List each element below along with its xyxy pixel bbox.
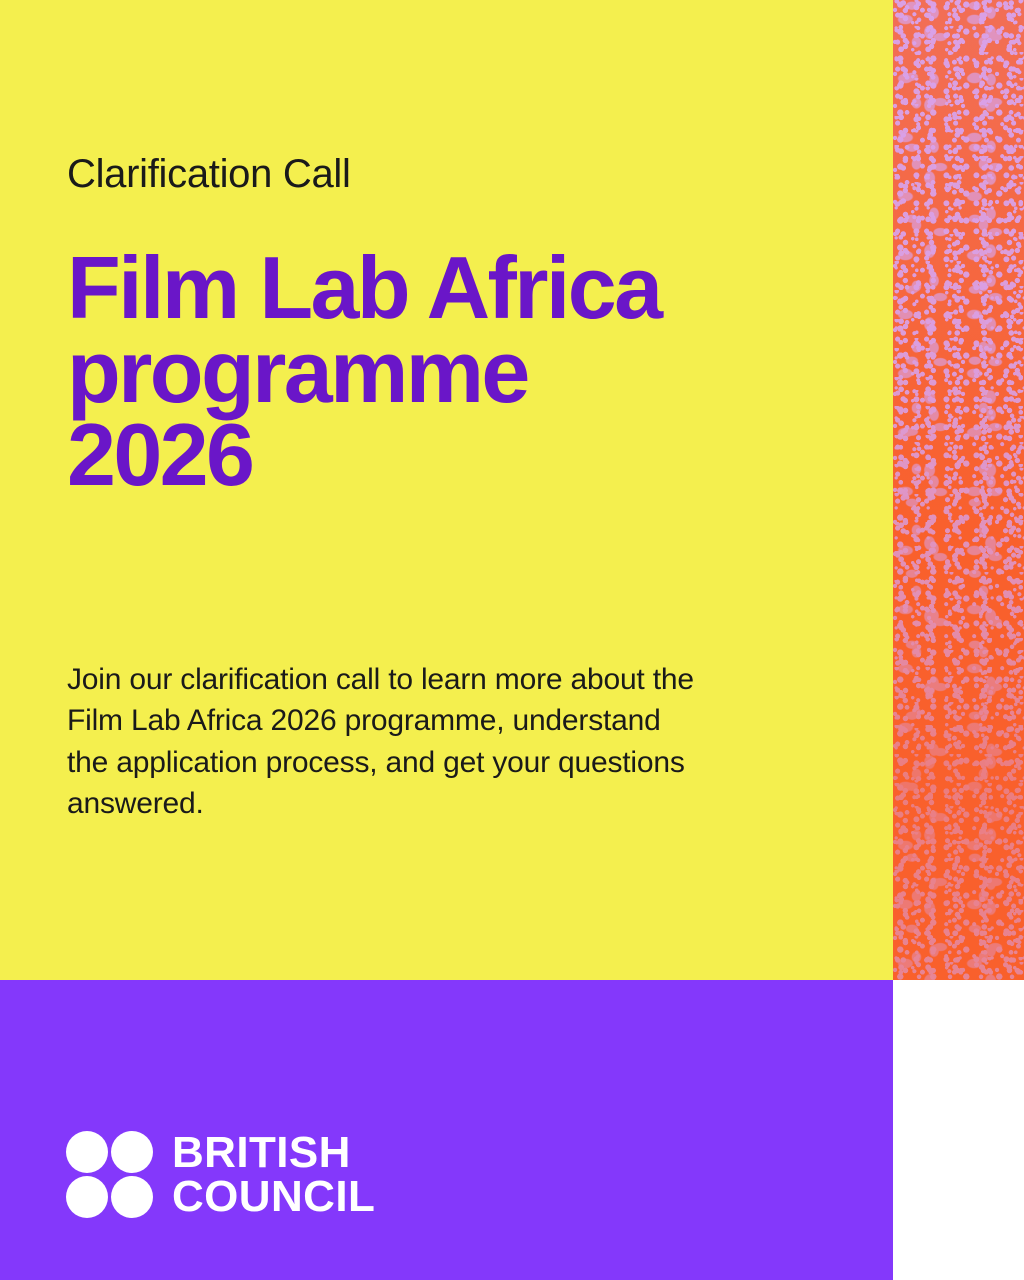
british-council-logo: BRITISH COUNCIL xyxy=(66,1131,375,1218)
purple-footer-band xyxy=(0,980,893,1280)
body-paragraph: Join our clarification call to learn mor… xyxy=(67,497,707,825)
texture-orange-gradient xyxy=(893,0,1024,980)
eyebrow-label: Clarification Call xyxy=(67,152,767,196)
logo-dots-icon xyxy=(66,1131,153,1218)
poster-canvas: Clarification Call Film Lab Africa progr… xyxy=(0,0,1024,1280)
logo-wordmark-line-1: BRITISH xyxy=(172,1131,375,1175)
page-title: Film Lab Africa programme 2026 xyxy=(67,196,707,497)
text-content-block: Clarification Call Film Lab Africa progr… xyxy=(67,152,767,824)
logo-wordmark: BRITISH COUNCIL xyxy=(172,1131,375,1218)
logo-dot-bottom-left xyxy=(66,1176,108,1218)
logo-dot-top-left xyxy=(66,1131,108,1173)
logo-dot-bottom-right xyxy=(111,1176,153,1218)
logo-wordmark-line-2: COUNCIL xyxy=(172,1175,375,1219)
textured-side-strip xyxy=(893,0,1024,980)
logo-dot-top-right xyxy=(111,1131,153,1173)
